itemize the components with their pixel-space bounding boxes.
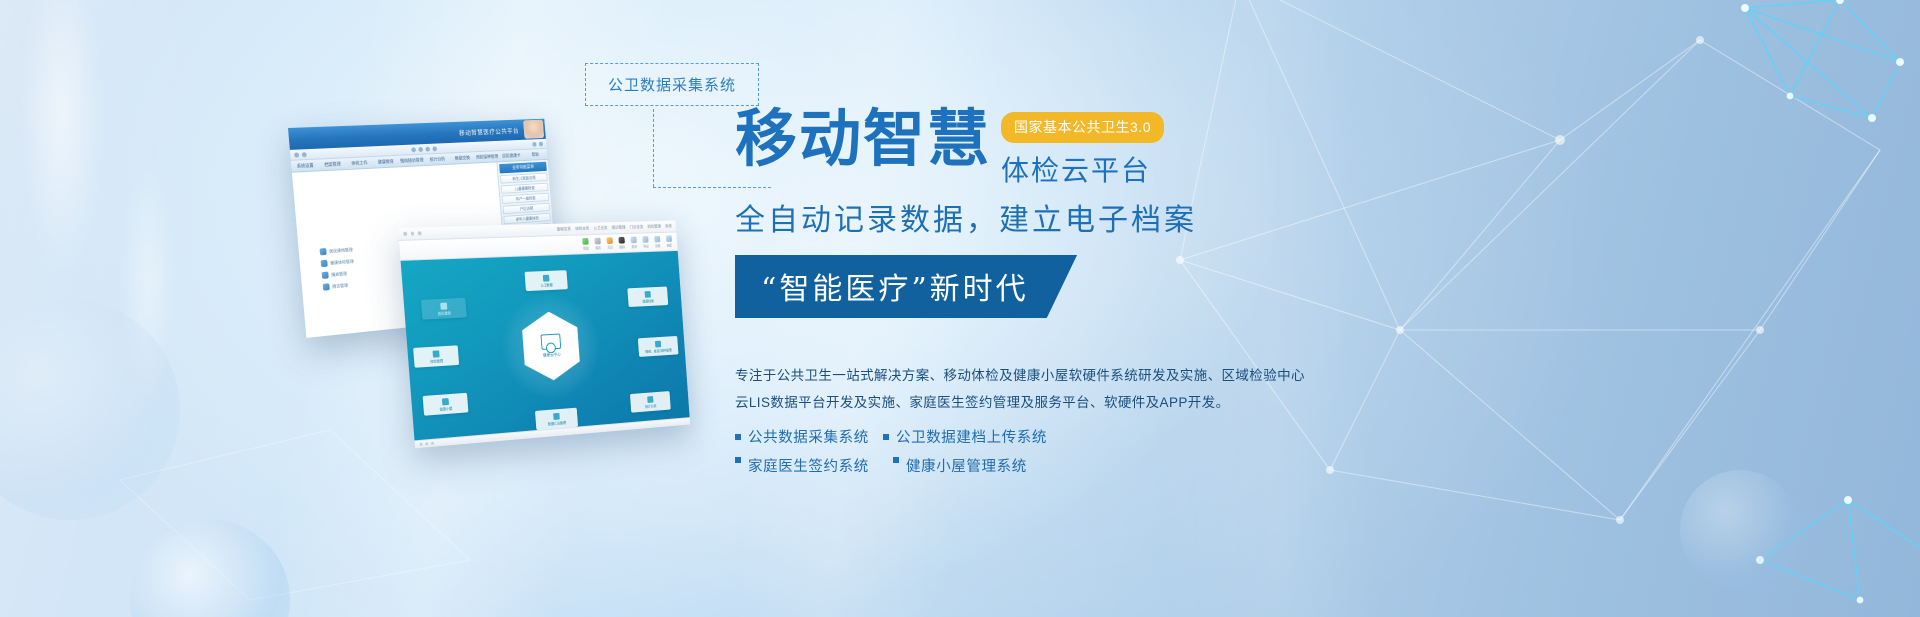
ribbon-button-label: 新建 <box>583 246 589 251</box>
dashboard-node-label: 慢病、疫苗 接种管理 <box>645 347 672 353</box>
tab[interactable]: 检验管理 <box>647 224 661 230</box>
dashboard-node[interactable]: 居民建档 <box>421 298 467 320</box>
list-item[interactable]: 健康小屋管理系统 <box>893 455 1027 476</box>
list-item-label: 公卫数据建档上传系统 <box>896 426 1047 447</box>
headline-main: 移动智慧 <box>735 108 991 170</box>
ribbon-button-label: 设置 <box>655 243 661 248</box>
ribbon-button[interactable]: 删除 <box>618 237 625 249</box>
callout-label[interactable]: 公卫数据采集系统 <box>585 63 759 106</box>
list-item-label: 家庭医生签约系统 <box>748 455 869 476</box>
dashboard-node[interactable]: 健康档案 <box>627 287 668 308</box>
bullet-row: 家庭医生签约系统 健康小屋管理系统 <box>735 455 1355 476</box>
menu-item[interactable]: 统计分析 <box>424 156 450 163</box>
menu-item[interactable]: 健康教育 <box>372 158 399 165</box>
ribbon-button-label: 保存 <box>595 245 601 250</box>
description-line-2: 云LIS数据平台开发及实施、家庭医生签约管理及服务平台、软硬件及APP开发。 <box>735 389 1355 416</box>
ribbon-banner: “智能医疗”新时代 <box>735 255 1085 318</box>
ribbon-button-label: 导出 <box>643 244 649 249</box>
magnifier-document-icon <box>541 333 562 349</box>
mockup-icon-label: 健康体检管理 <box>330 258 354 266</box>
dashboard-node-label: 公卫数据 <box>540 282 552 287</box>
window-controls[interactable] <box>403 232 421 236</box>
mockup-icon-label: 居民建档管理 <box>329 247 353 255</box>
status-badge: 国家基本公共卫生3.0 <box>1001 112 1164 143</box>
tab[interactable]: 系统 <box>665 223 672 229</box>
dashboard-node-label: 健康档案 <box>642 298 654 303</box>
bullet-square-icon <box>735 457 741 463</box>
menu-item[interactable]: 慢病随访管理 <box>399 157 425 164</box>
mockup-icon-label: 慢病管理 <box>331 270 347 277</box>
headline-row: 移动智慧 国家基本公共卫生3.0 体检云平台 <box>735 108 1355 189</box>
callout-leader-vertical <box>653 109 654 187</box>
menu-item[interactable]: 帮助 <box>523 151 547 158</box>
menu-item[interactable]: 档案管理 <box>319 161 347 168</box>
menu-item[interactable]: 数据交换 <box>450 155 475 162</box>
tab[interactable]: 门诊业务 <box>630 224 644 230</box>
ribbon-button[interactable]: 刷新 <box>666 235 673 247</box>
list-item-label: 健康小屋管理系统 <box>906 455 1027 476</box>
sidebar-item[interactable]: 儿童健康检查 <box>501 183 549 194</box>
callout: 公卫数据采集系统 <box>585 63 759 106</box>
dashboard-node-label: 健康小屋 <box>439 405 452 411</box>
mockup-front-tabs: 基础信息 体检业务 公卫业务 随访管理 门诊业务 检验管理 系统 <box>557 223 672 232</box>
dashboard-node[interactable]: 慢病、疫苗 接种管理 <box>638 336 679 357</box>
ribbon-button[interactable]: 设置 <box>654 236 661 248</box>
list-item-label: 公共数据采集系统 <box>748 426 869 447</box>
dashboard-node-label: 统计分析 <box>645 403 657 409</box>
headline-right-column: 国家基本公共卫生3.0 体检云平台 <box>1001 108 1164 189</box>
ribbon-button[interactable]: 打印 <box>606 237 613 249</box>
dashboard-node[interactable]: 公卫数据 <box>525 270 568 291</box>
bullet-square-icon <box>883 434 889 440</box>
dashboard-canvas: 健康云中心 公卫数据 健康档案 慢病、疫苗 接种管理 统计分析 数据汇总管理 健… <box>401 251 691 448</box>
mockup-icon-label: 随访管理 <box>332 282 348 289</box>
dashboard-node-label: 数据汇总管理 <box>548 419 566 425</box>
list-item[interactable]: 公卫数据建档上传系统 <box>883 426 1047 447</box>
decorative-orb <box>1680 470 1800 590</box>
tab[interactable]: 随访管理 <box>612 225 626 231</box>
menu-item[interactable]: 体检工作 <box>346 159 373 166</box>
ribbon-button-label: 刷新 <box>667 243 673 248</box>
sidebar-item[interactable]: 新生儿家庭访视 <box>500 173 548 184</box>
dashboard-node[interactable]: 体检管理 <box>413 345 459 367</box>
hero-content: 移动智慧 国家基本公共卫生3.0 体检云平台 全自动记录数据，建立电子档案 “智… <box>735 108 1355 476</box>
tab[interactable]: 公卫业务 <box>593 225 607 231</box>
menu-item[interactable]: 预防接种管理 <box>475 153 500 160</box>
bullet-row: 公共数据采集系统 公卫数据建档上传系统 <box>735 426 1355 447</box>
dashboard-node[interactable]: 健康小屋 <box>423 393 469 416</box>
description-line-1: 专注于公共卫生一站式解决方案、移动体检及健康小屋软硬件系统研发及实施、区域检验中… <box>735 362 1355 389</box>
ribbon-button-label: 打印 <box>607 245 613 250</box>
ribbon-button[interactable]: 导出 <box>642 236 649 248</box>
bullet-square-icon <box>735 434 741 440</box>
ribbon-button[interactable]: 查询 <box>630 237 637 249</box>
ribbon-button[interactable]: 新建 <box>582 238 589 251</box>
menu-item[interactable]: 居民健康卡 <box>499 152 524 159</box>
product-screenshots: 移动智慧医疗公共平台 系统设置 档案管理 体检工作 健康教育 慢病随访管理 统计… <box>280 120 750 460</box>
dashboard-node[interactable]: 统计分析 <box>630 391 671 413</box>
list-item[interactable]: 公共数据采集系统 <box>735 426 883 447</box>
feature-bullet-list: 公共数据采集系统 公卫数据建档上传系统 家庭医生签约系统 健康小屋管理系统 <box>735 426 1355 476</box>
sidebar-header: 业务导航菜单 <box>499 162 547 174</box>
ribbon-button-label: 删除 <box>619 244 625 249</box>
tab[interactable]: 基础信息 <box>557 226 572 232</box>
screenshot-health-cloud-dashboard[interactable]: 基础信息 体检业务 公卫业务 随访管理 门诊业务 检验管理 系统 新建 保存 打… <box>398 220 690 448</box>
list-item[interactable]: 家庭医生签约系统 <box>735 455 883 476</box>
tagline: 全自动记录数据，建立电子档案 <box>735 195 1355 239</box>
banner-stage: 移动智慧医疗公共平台 系统设置 档案管理 体检工作 健康教育 慢病随访管理 统计… <box>0 0 1920 617</box>
ribbon-banner-wrap: “智能医疗”新时代 <box>735 239 1085 318</box>
menu-item[interactable]: 系统设置 <box>291 162 319 169</box>
mockup-back-title: 移动智慧医疗公共平台 <box>459 125 520 137</box>
tab[interactable]: 体检业务 <box>575 226 589 232</box>
doctor-photo <box>523 120 544 139</box>
dashboard-node-label: 居民建档 <box>438 310 451 316</box>
bullet-square-icon <box>893 457 899 463</box>
ribbon-button-label: 查询 <box>631 244 637 249</box>
ribbon-button[interactable]: 保存 <box>594 238 601 250</box>
dashboard-node-label: 体检管理 <box>430 358 443 364</box>
headline-sub: 体检云平台 <box>1001 149 1164 189</box>
